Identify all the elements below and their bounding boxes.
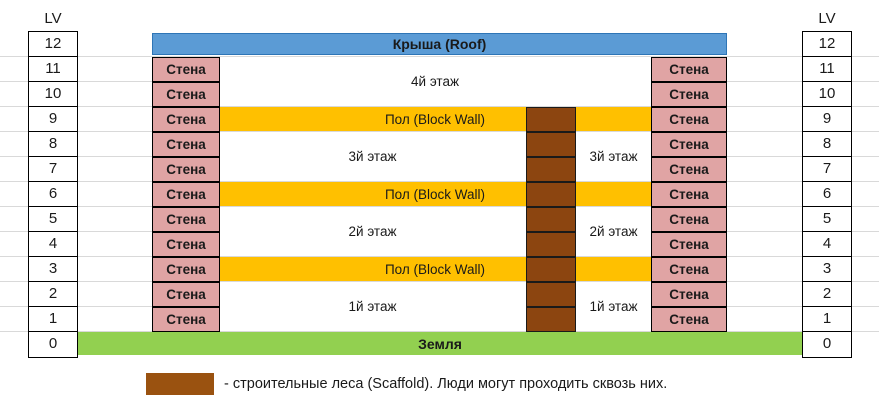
roof-band: Крыша (Roof) [152,33,727,55]
wall-cell-right-5: Стена [651,207,727,232]
wall-cell-left-6: Стена [152,182,220,207]
wall-cell-right-4: Стена [651,232,727,257]
wall-cell-right-3: Стена [651,257,727,282]
lv-cell: 4 [29,232,77,257]
lv-cell: 0 [803,332,851,357]
lv-cell: 2 [803,282,851,307]
lv-cell: 1 [29,307,77,332]
lv-cell: 1 [803,307,851,332]
floor-slab-level-3: Пол (Block Wall) [219,257,651,281]
legend-label: - строительные леса (Scaffold). Люди мог… [224,376,667,392]
wall-cell-left-8: Стена [152,132,220,157]
lv-cell: 10 [803,82,851,107]
lv-cell: 6 [29,182,77,207]
lv-cell: 11 [29,57,77,82]
wall-cell-left-11: Стена [152,57,220,82]
scaffold-cell-6 [526,182,576,207]
lv-cell: 9 [803,107,851,132]
lv-cell: 5 [29,207,77,232]
scaffold-cell-7 [526,157,576,182]
wall-cell-right-2: Стена [651,282,727,307]
scaffold-cell-4 [526,232,576,257]
wall-cell-right-7: Стена [651,157,727,182]
wall-cell-right-11: Стена [651,57,727,82]
scaffold-cell-2 [526,282,576,307]
wall-cell-left-7: Стена [152,157,220,182]
ground-band: Земля [78,332,802,355]
floor-area-3-left: 3й этаж [219,132,526,181]
wall-cell-left-4: Стена [152,232,220,257]
scaffold-cell-9 [526,107,576,132]
scaffold-cell-3 [526,257,576,282]
lv-cell: 8 [29,132,77,157]
wall-cell-right-8: Стена [651,132,727,157]
lv-cell: 8 [803,132,851,157]
floor-area-4: 4й этаж [219,57,651,106]
floor-area-1-left: 1й этаж [219,282,526,331]
floor-area-3-right: 3й этаж [576,132,651,181]
scaffold-cell-5 [526,207,576,232]
wall-cell-left-5: Стена [152,207,220,232]
wall-cell-left-1: Стена [152,307,220,332]
lv-column-left: 12 11 10 9 8 7 6 5 4 3 2 1 0 [28,31,78,358]
lv-cell: 5 [803,207,851,232]
wall-cell-left-10: Стена [152,82,220,107]
lv-cell: 12 [803,32,851,57]
lv-cell: 12 [29,32,77,57]
floor-area-1-right: 1й этаж [576,282,651,331]
legend: - строительные леса (Scaffold). Люди мог… [146,373,667,395]
lv-cell: 7 [29,157,77,182]
wall-cell-left-2: Стена [152,282,220,307]
scaffold-swatch-icon [146,373,214,395]
lv-header-right: LV [802,10,852,27]
wall-cell-right-6: Стена [651,182,727,207]
floor-slab-level-9: Пол (Block Wall) [219,107,651,131]
floor-area-2-left: 2й этаж [219,207,526,256]
lv-column-right: 12 11 10 9 8 7 6 5 4 3 2 1 0 [802,31,852,358]
lv-cell: 10 [29,82,77,107]
wall-cell-right-9: Стена [651,107,727,132]
lv-header-left: LV [28,10,78,27]
lv-cell: 9 [29,107,77,132]
lv-cell: 0 [29,332,77,357]
lv-cell: 6 [803,182,851,207]
building-level-diagram: LV LV 12 11 10 9 8 7 6 5 4 3 2 1 0 12 11… [0,0,879,411]
scaffold-cell-8 [526,132,576,157]
lv-cell: 2 [29,282,77,307]
wall-cell-right-1: Стена [651,307,727,332]
lv-cell: 3 [803,257,851,282]
scaffold-cell-1 [526,307,576,332]
lv-cell: 11 [803,57,851,82]
wall-cell-left-9: Стена [152,107,220,132]
floor-area-2-right: 2й этаж [576,207,651,256]
wall-cell-left-3: Стена [152,257,220,282]
lv-cell: 4 [803,232,851,257]
lv-cell: 3 [29,257,77,282]
wall-cell-right-10: Стена [651,82,727,107]
floor-slab-level-6: Пол (Block Wall) [219,182,651,206]
lv-cell: 7 [803,157,851,182]
